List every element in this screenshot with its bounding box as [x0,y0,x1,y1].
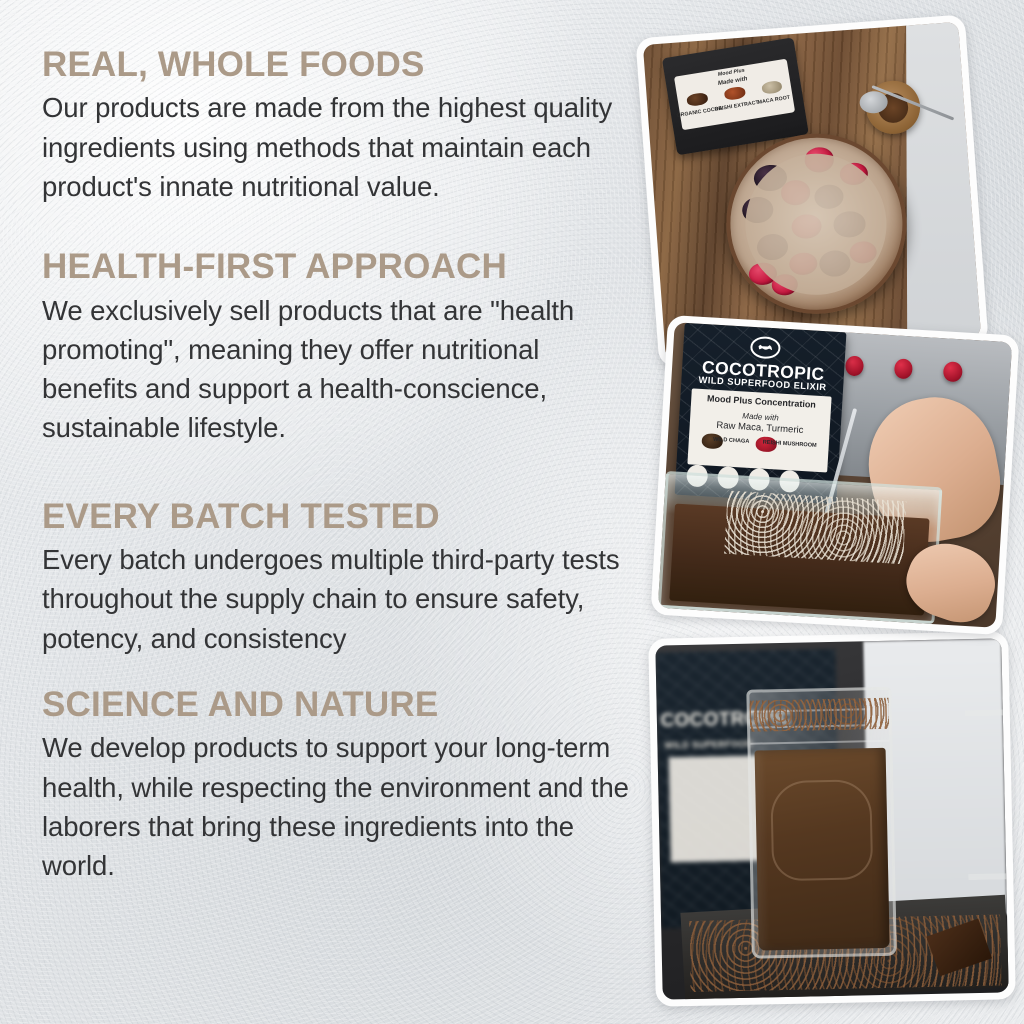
value-body: We develop products to support your long… [42,728,632,885]
photo-image: COCOTROPIC WILD SUPERFOOD [655,638,1008,999]
brand-values-list: REAL, WHOLE FOODS Our products are made … [42,44,632,892]
value-body: Every batch undergoes multiple third-par… [42,540,632,658]
value-heading: EVERY BATCH TESTED [42,496,632,537]
photo-image: COCOTROPIC WILD SUPERFOOD ELIXIR Mood Pl… [658,322,1012,628]
value-block-science-and-nature: SCIENCE AND NATURE We develop products t… [42,684,632,886]
pouch-ingredient-reishi: REISHI MUSHROOM [720,437,847,451]
photo-chocolate-drink-mason-jar[interactable]: COCOTROPIC WILD SUPERFOOD [648,631,1016,1006]
pouch-label: Mood Plus Made with ORGANIC COCOA REISHI… [674,59,795,131]
reishi-swatch [724,87,746,102]
value-body: We exclusively sell products that are "h… [42,291,632,448]
pouch-info-card: Mood Plus Concentration Made with Raw Ma… [688,389,832,473]
maca-swatch [761,81,783,96]
cocoa-rim-dust [749,698,889,732]
value-heading: SCIENCE AND NATURE [42,684,632,725]
stove-knob [943,361,963,382]
jar-handle [965,708,1009,879]
jar-embossed-text [771,780,873,882]
value-block-real-whole-foods: REAL, WHOLE FOODS Our products are made … [42,44,632,206]
photo-image: Mood Plus Made with ORGANIC COCOA REISHI… [643,22,981,360]
stove-knob [894,358,914,379]
stove-knob [845,355,865,376]
value-heading: REAL, WHOLE FOODS [42,44,632,85]
glass-baking-dish [658,471,943,624]
photo-berry-smoothie-bowl[interactable]: Mood Plus Made with ORGANIC COCOA REISHI… [635,14,988,367]
value-block-health-first-approach: HEALTH-FIRST APPROACH We exclusively sel… [42,246,632,448]
value-body: Our products are made from the highest q… [42,88,632,206]
photo-hands-stirring-mixture[interactable]: COCOTROPIC WILD SUPERFOOD ELIXIR Mood Pl… [650,315,1019,635]
value-block-every-batch-tested: EVERY BATCH TESTED Every batch undergoes… [42,496,632,658]
cocoa-swatch [687,93,709,108]
pouch-benefit: Mood Plus Concentration [692,392,832,410]
coconut-crumbs [724,491,906,565]
mason-jar-mug [746,687,897,959]
value-heading: HEALTH-FIRST APPROACH [42,246,632,287]
